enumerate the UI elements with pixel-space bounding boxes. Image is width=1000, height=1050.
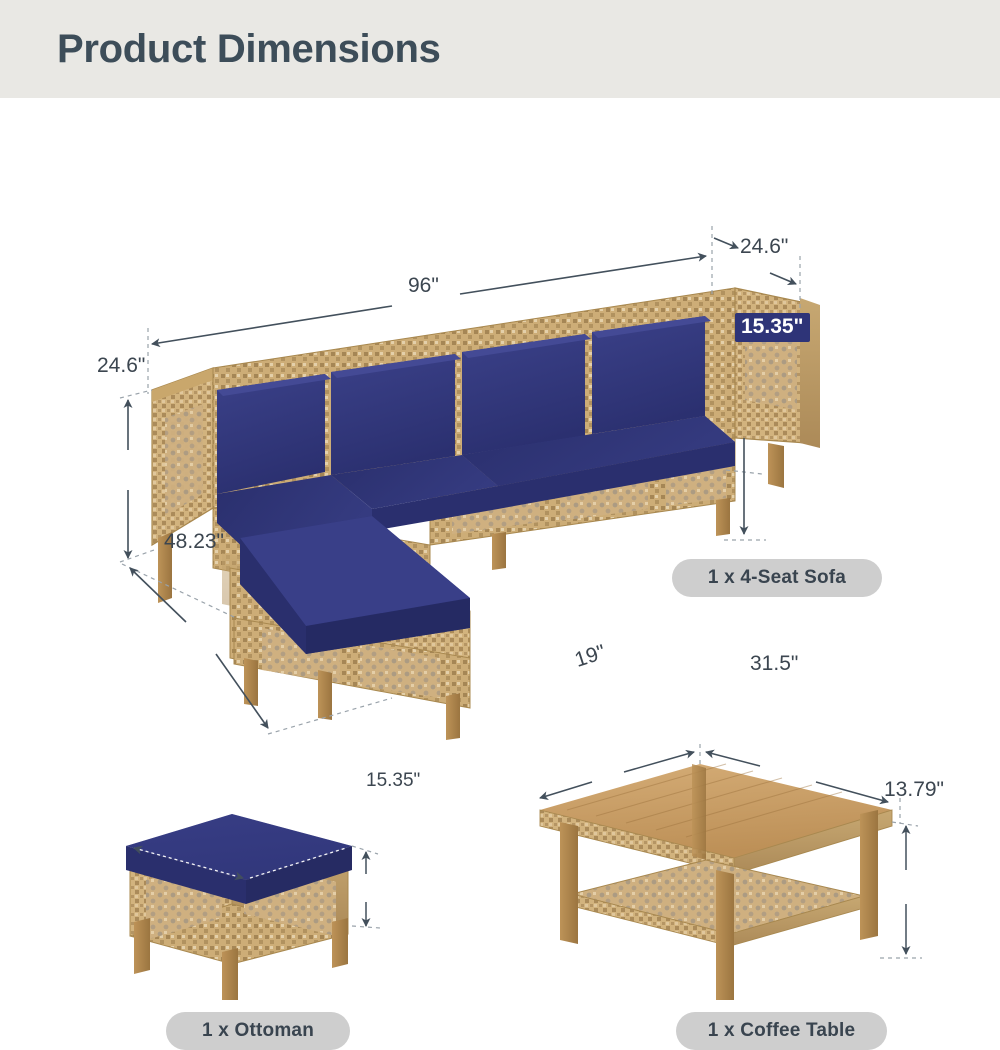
sofa-chaise-label: 48.23" (164, 530, 224, 554)
ottoman-dimension-lines (352, 846, 380, 928)
badge-coffee-table: 1 x Coffee Table (676, 1012, 887, 1050)
badge-sofa: 1 x 4-Seat Sofa (672, 559, 882, 597)
badge-ottoman: 1 x Ottoman (166, 1012, 350, 1050)
ottoman-illustration (126, 814, 352, 1000)
sofa-left-arm (152, 368, 213, 603)
sofa-seat-height-label: 15.35" (735, 313, 810, 342)
page-title: Product Dimensions (57, 27, 441, 72)
illustration-stage: 96" 24.6" 24.6" 48.23" 15.35" 23.2" 23.2… (0, 98, 1000, 1000)
sectional-sofa-illustration (0, 98, 1000, 1000)
sofa-height-label: 24.6" (97, 354, 145, 378)
sofa-group (152, 288, 820, 740)
ottoman-height-label: 15.35" (366, 770, 420, 792)
table-height-label: 13.79" (884, 778, 944, 802)
coffee-table-illustration (540, 764, 892, 1000)
sofa-depth-label: 24.6" (740, 235, 788, 259)
table-width-label: 31.5" (750, 652, 798, 676)
sofa-width-label: 96" (408, 274, 439, 298)
